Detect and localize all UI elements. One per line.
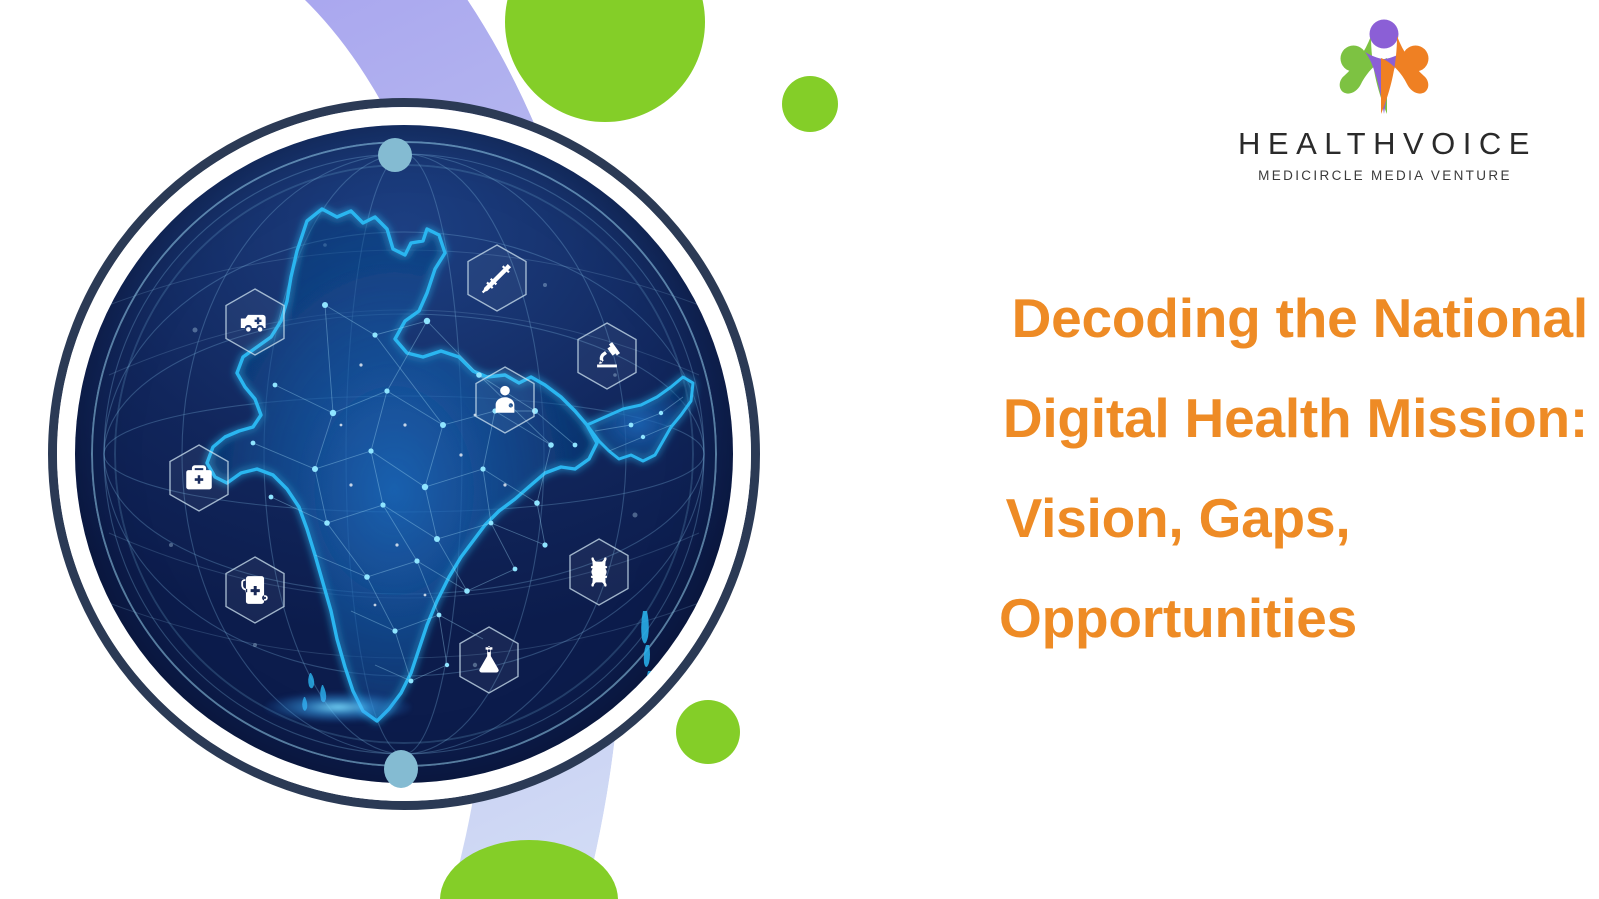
green-circle-small (782, 76, 838, 132)
microscope-glyph (590, 339, 624, 373)
ring-marker-top (378, 138, 412, 172)
globe-disc (75, 125, 733, 783)
brand-tagline: MEDICIRCLE MEDIA VENTURE (1224, 168, 1544, 183)
india-digital-health-network-globe (48, 98, 760, 810)
syringe-icon (465, 243, 529, 313)
microscope-icon (575, 321, 639, 391)
india-tip-glow (266, 693, 411, 723)
telemedicine-glyph (238, 573, 272, 607)
green-circle-bottom (440, 840, 618, 899)
three-people-logo-icon (1325, 14, 1443, 122)
lab-flask-glyph (472, 643, 506, 677)
doctor-glyph (488, 383, 522, 417)
brand-logo: HEALTHVOICE MEDICIRCLE MEDIA VENTURE (1224, 14, 1544, 183)
doctor-icon (473, 365, 537, 435)
ambulance-icon (223, 287, 287, 357)
headline-line-2: Digital Health Mission: (768, 368, 1588, 468)
telemedicine-icon (223, 555, 287, 625)
first-aid-kit-icon (167, 443, 231, 513)
headline-line-1: Decoding the National (768, 268, 1588, 368)
brand-name: HEALTHVOICE (1224, 126, 1544, 162)
headline-line-3: Vision, Gaps, (768, 468, 1588, 568)
ring-marker-bottom (384, 750, 418, 788)
syringe-glyph (480, 261, 514, 295)
first-aid-kit-glyph (182, 461, 216, 495)
banner-canvas: HEALTHVOICE MEDICIRCLE MEDIA VENTURE Dec… (0, 0, 1599, 899)
dna-icon (567, 537, 631, 607)
headline-line-4: Opportunities (768, 568, 1588, 668)
ambulance-glyph (238, 305, 272, 339)
page-title: Decoding the National Digital Health Mis… (768, 268, 1588, 668)
lab-flask-icon (457, 625, 521, 695)
dna-glyph (582, 555, 616, 589)
